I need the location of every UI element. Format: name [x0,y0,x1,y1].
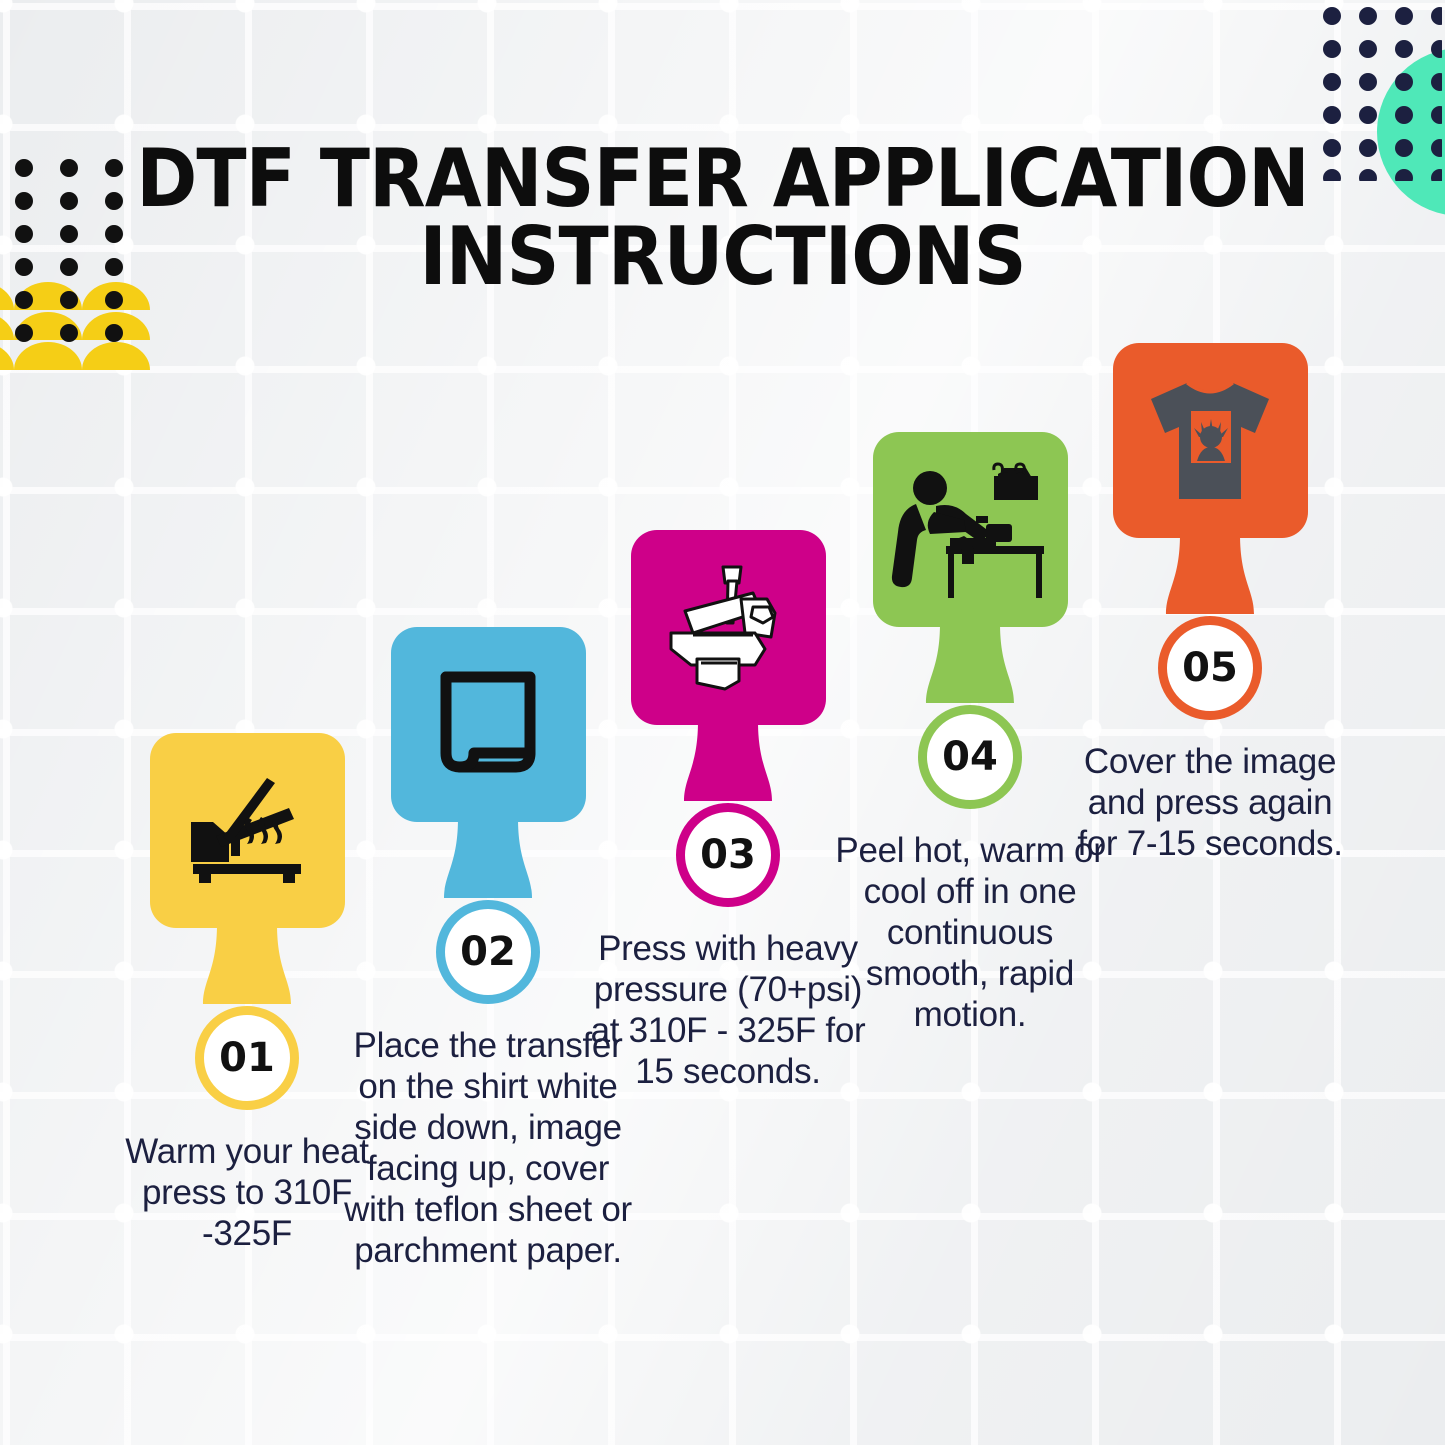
step-01-icon-tile [150,733,345,928]
heat-press-machine-icon [657,563,799,693]
step-02-icon-tile [391,627,586,822]
printed-tshirt-icon [1137,377,1283,505]
step-01-number: 01 [219,1035,275,1081]
step-05-icon-tile [1113,343,1308,538]
step-02-number: 02 [460,929,516,975]
worker-peeling-transfer-icon [890,460,1050,600]
step-03-number: 03 [700,832,756,878]
step-05[interactable]: 05 Cover the image and press again for 7… [1060,343,1360,865]
page-title-line-2: INSTRUCTIONS [58,218,1387,296]
page-title: DTF TRANSFER APPLICATION INSTRUCTIONS [58,140,1387,297]
step-02-number-badge: 02 [436,900,540,1004]
heat-press-open-icon [177,776,317,886]
step-04-icon-tile [873,432,1068,627]
step-05-number-badge: 05 [1158,616,1262,720]
step-03-icon-tile [631,530,826,725]
step-05-number: 05 [1182,645,1238,691]
step-04-number-badge: 04 [918,705,1022,809]
step-04-number: 04 [942,734,998,780]
transfer-sheet-icon [428,665,548,785]
step-01-number-badge: 01 [195,1006,299,1110]
step-05-caption: Cover the image and press again for 7-15… [1065,742,1355,865]
step-03-number-badge: 03 [676,803,780,907]
